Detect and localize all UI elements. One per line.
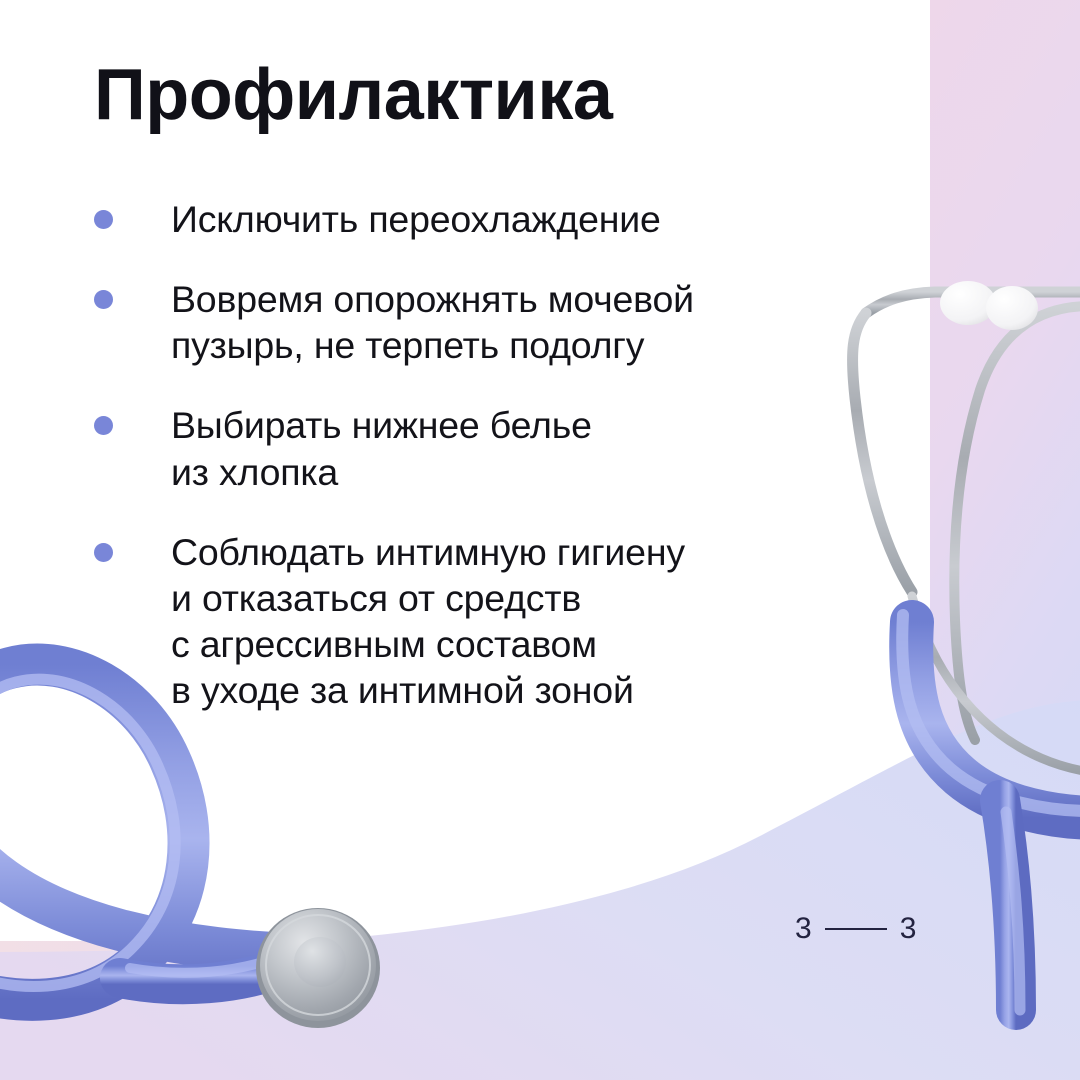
chestpiece-hub	[294, 937, 346, 987]
list-item: Вовремя опорожнять мочевой пузырь, не те…	[94, 276, 854, 368]
list-item: Соблюдать интимную гигиену и отказаться …	[94, 529, 854, 714]
page-indicator-rule	[825, 928, 887, 930]
page-title: Профилактика	[94, 58, 612, 134]
page-current: 3	[795, 912, 812, 946]
page-indicator: 3 3	[795, 912, 916, 946]
bullet-list: Исключить переохлаждение Вовремя опорожн…	[94, 196, 854, 747]
list-item: Выбирать нижнее белье из хлопка	[94, 402, 854, 494]
bullet-dot-icon	[94, 543, 113, 562]
bullet-dot-icon	[94, 290, 113, 309]
bullet-text: Вовремя опорожнять мочевой пузырь, не те…	[171, 276, 694, 368]
page-total: 3	[900, 912, 917, 946]
bullet-text: Соблюдать интимную гигиену и отказаться …	[171, 529, 685, 714]
slide-root: Профилактика Исключить переохлаждение Во…	[0, 0, 1080, 1080]
bullet-dot-icon	[94, 210, 113, 229]
bullet-text: Выбирать нижнее белье из хлопка	[171, 402, 592, 494]
list-item: Исключить переохлаждение	[94, 196, 854, 242]
bullet-text: Исключить переохлаждение	[171, 196, 661, 242]
bullet-dot-icon	[94, 416, 113, 435]
earpiece-right	[986, 286, 1038, 330]
